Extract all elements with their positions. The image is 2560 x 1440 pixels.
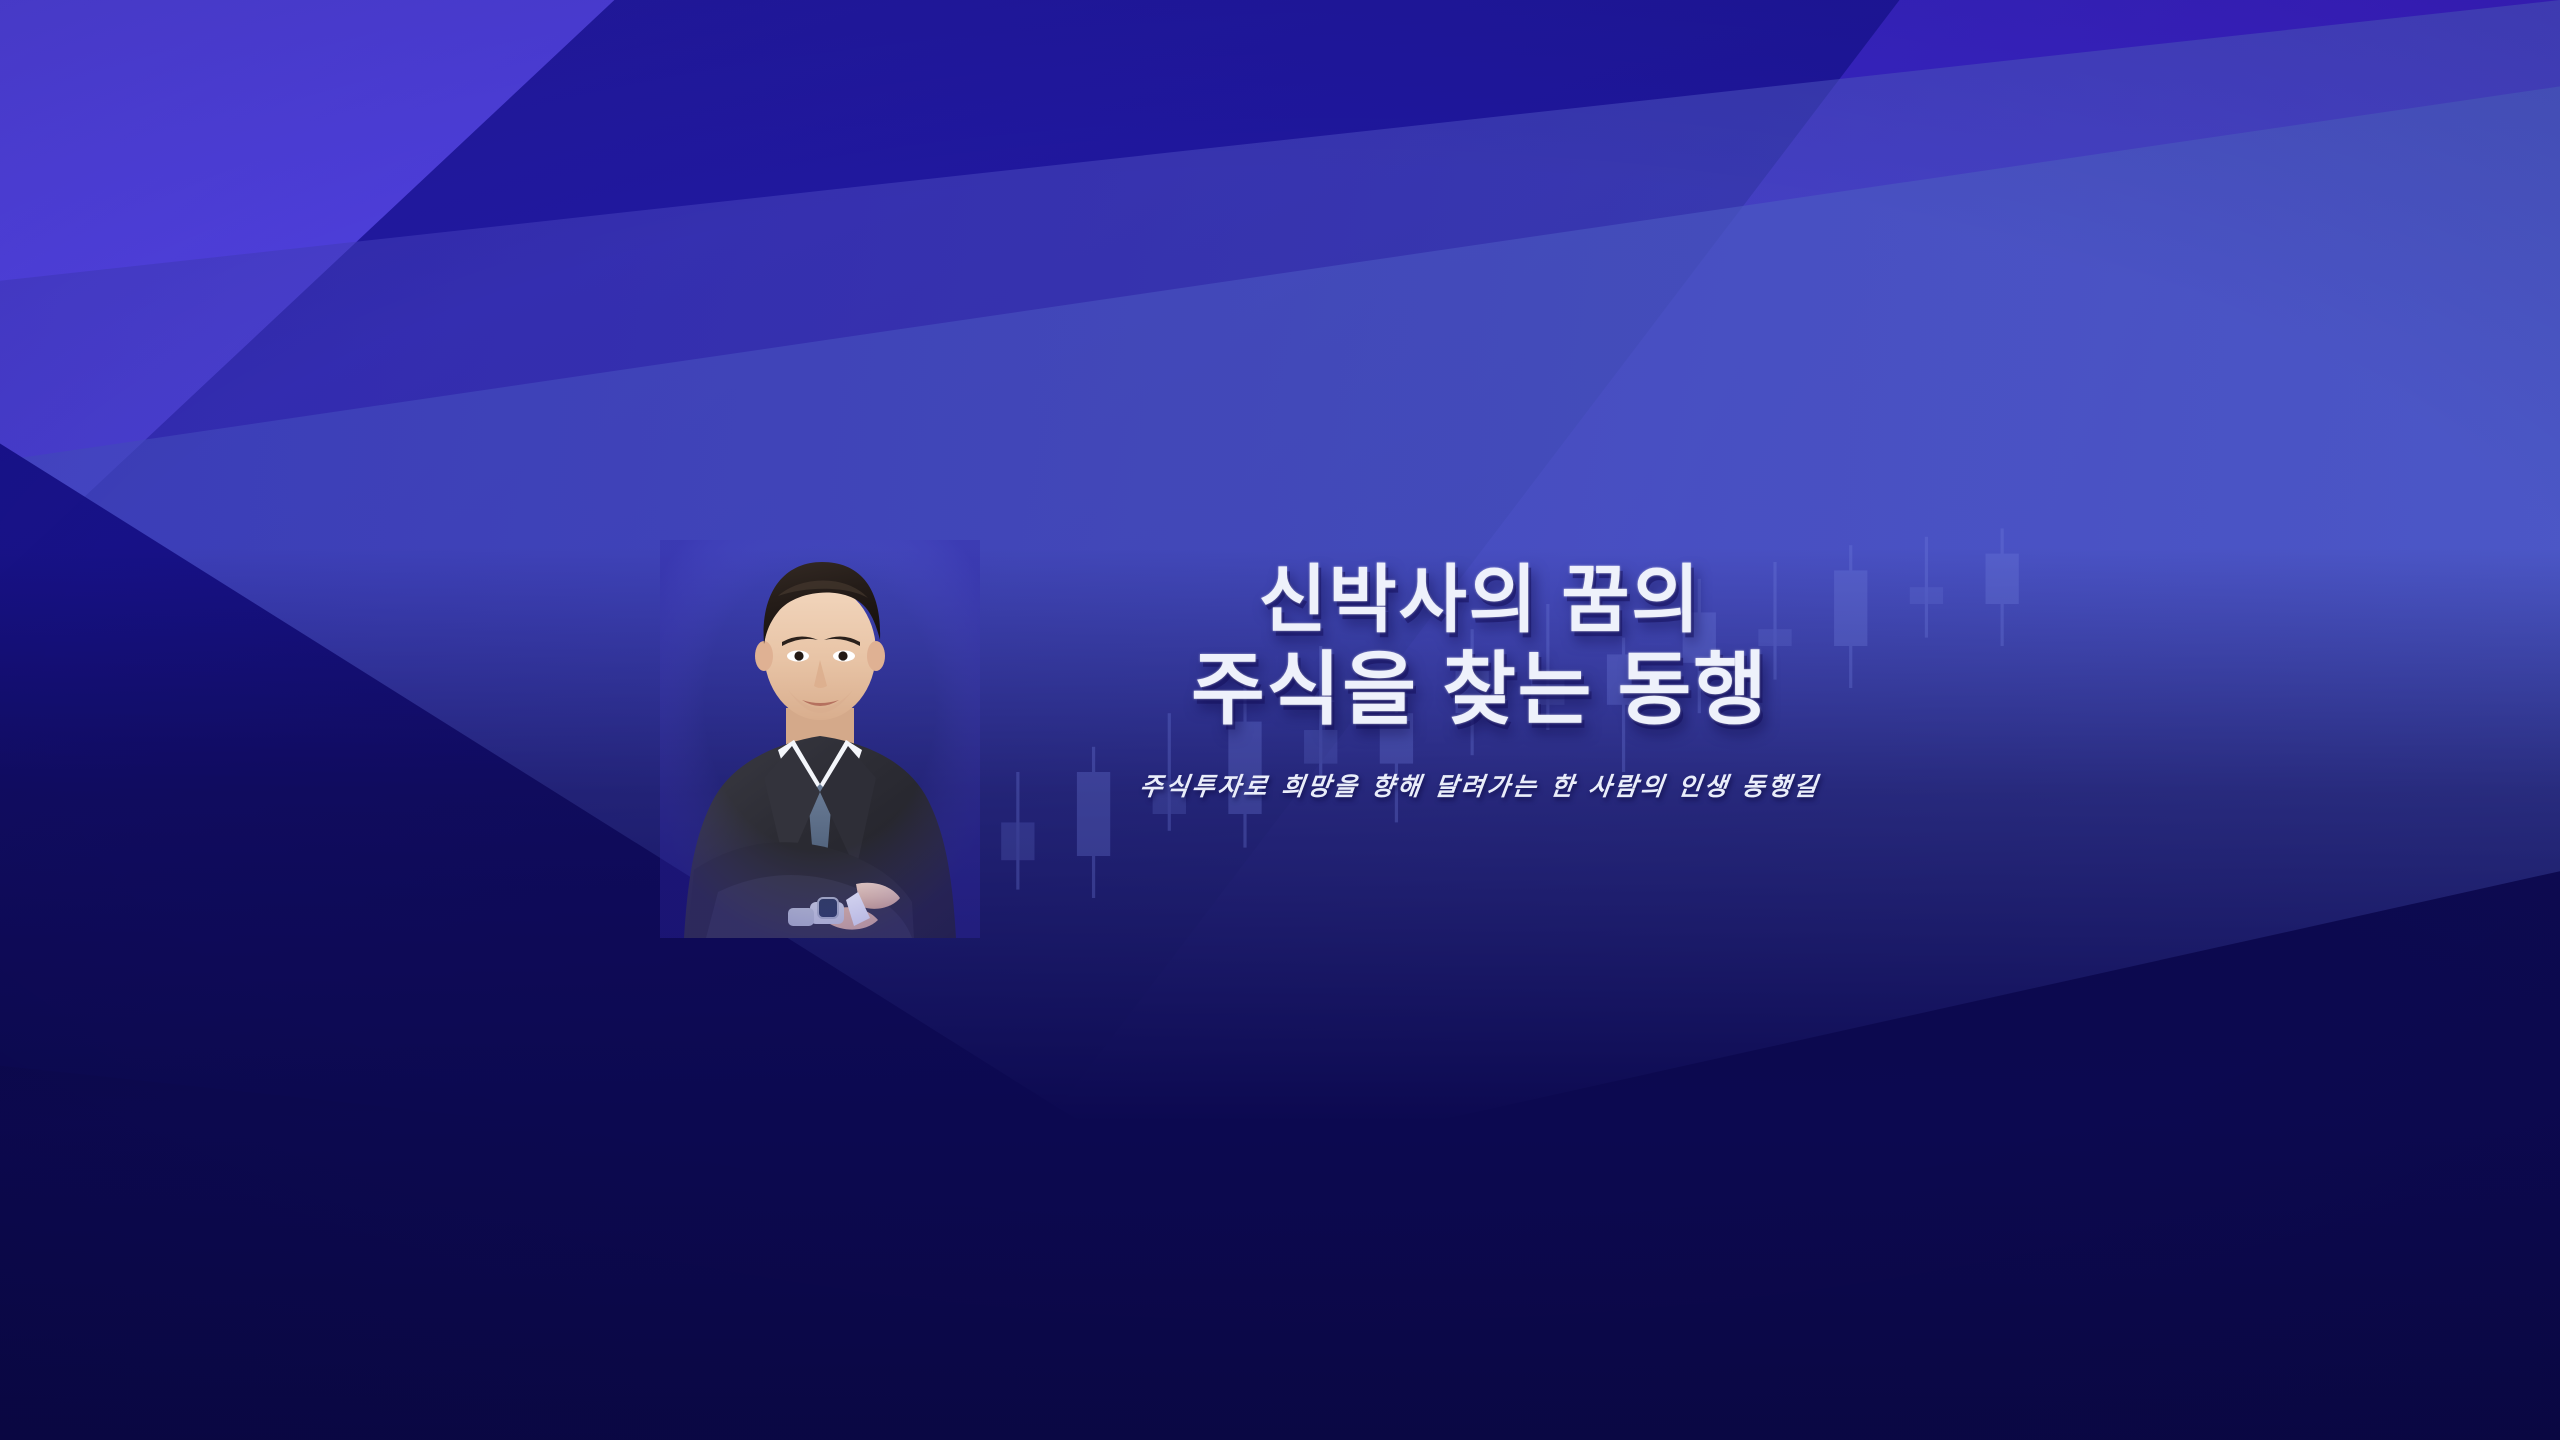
channel-banner: 신박사의 꿈의 주식을 찾는 동행 주식투자로 희망을 향해 달려가는 한 사람…	[0, 0, 2560, 1440]
banner-title-line-1: 신박사의 꿈의	[1060, 560, 1900, 639]
banner-subtitle: 주식투자로 희망을 향해 달려가는 한 사람의 인생 동행길	[1058, 767, 1902, 803]
host-portrait-photo	[660, 540, 980, 938]
banner-text-block: 신박사의 꿈의 주식을 찾는 동행 주식투자로 희망을 향해 달려가는 한 사람…	[1060, 560, 1900, 803]
banner-title-line-2: 주식을 찾는 동행	[1060, 647, 1900, 733]
